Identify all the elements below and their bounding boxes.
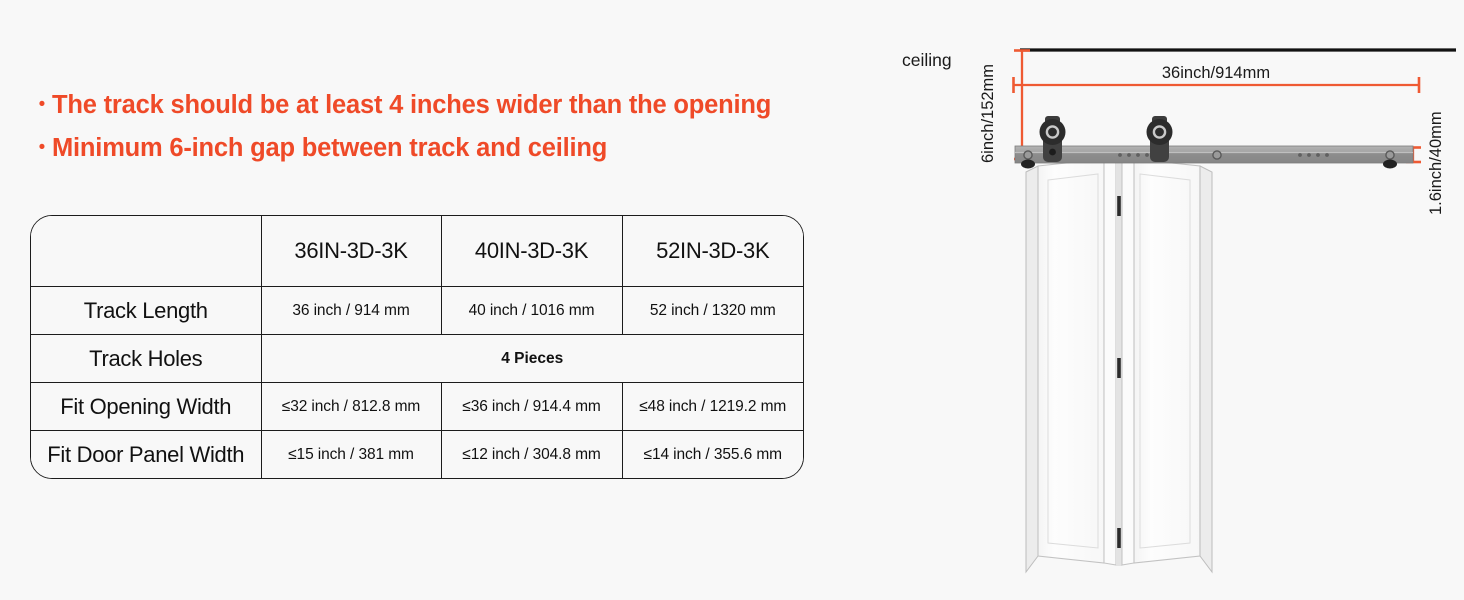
- door-hinge-middle: [1117, 358, 1121, 378]
- door-center-stile-right: [1122, 157, 1134, 565]
- row-label: Track Length: [31, 287, 261, 335]
- row-label: Fit Door Panel Width: [31, 431, 261, 479]
- table-row: Track Holes 4 Pieces: [31, 335, 803, 383]
- gap-dimension-label: 6inch/152mm: [979, 64, 997, 163]
- bullet-dot-icon: •: [32, 88, 52, 122]
- table-cell: ≤32 inch / 812.8 mm: [261, 383, 441, 431]
- table-cell: 40 inch / 1016 mm: [441, 287, 622, 335]
- ceiling-label: ceiling: [902, 50, 952, 70]
- column-header: 52IN-3D-3K: [622, 216, 803, 287]
- bifold-door-diagram: ceiling 6inch/152mm 36inch/914mm 1.6inch…: [880, 0, 1464, 600]
- door-hinge-bottom: [1117, 528, 1121, 548]
- note-text: Minimum 6-inch gap between track and cei…: [52, 131, 607, 165]
- track-mount-hole: [1024, 151, 1032, 159]
- note-item: • Minimum 6-inch gap between track and c…: [30, 131, 910, 165]
- table-cell-merged: 4 Pieces: [261, 335, 803, 383]
- track-mount-hole: [1213, 151, 1221, 159]
- column-header: 40IN-3D-3K: [441, 216, 622, 287]
- row-label: Track Holes: [31, 335, 261, 383]
- bifold-door-panels: [1026, 156, 1212, 572]
- table-row: Track Length 36 inch / 914 mm 40 inch / …: [31, 287, 803, 335]
- row-label: Fit Opening Width: [31, 383, 261, 431]
- column-header: 36IN-3D-3K: [261, 216, 441, 287]
- track-end-stop: [1021, 160, 1035, 169]
- door-center-stile-left: [1104, 157, 1116, 565]
- note-text: The track should be at least 4 inches wi…: [52, 88, 771, 122]
- notes-list: • The track should be at least 4 inches …: [30, 88, 910, 174]
- roller-hanger-right: [1147, 116, 1173, 162]
- note-item: • The track should be at least 4 inches …: [30, 88, 910, 122]
- door-left-outer-edge: [1026, 166, 1038, 572]
- door-hinge-top: [1117, 196, 1121, 216]
- table-cell: ≤12 inch / 304.8 mm: [441, 431, 622, 479]
- roller-hanger-left: [1040, 116, 1066, 162]
- track-mount-hole: [1386, 151, 1394, 159]
- table-row: Fit Door Panel Width ≤15 inch / 381 mm ≤…: [31, 431, 803, 479]
- track-end-stop: [1383, 160, 1397, 169]
- table-cell: ≤48 inch / 1219.2 mm: [622, 383, 803, 431]
- table-cell: ≤36 inch / 914.4 mm: [441, 383, 622, 431]
- table-cell: ≤14 inch / 355.6 mm: [622, 431, 803, 479]
- track-length-dimension: 36inch/914mm: [1013, 64, 1420, 93]
- table-header-row: 36IN-3D-3K 40IN-3D-3K 52IN-3D-3K: [31, 216, 803, 287]
- bullet-dot-icon: •: [32, 131, 52, 165]
- table-cell: 52 inch / 1320 mm: [622, 287, 803, 335]
- table-corner-cell: [31, 216, 261, 287]
- table-row: Fit Opening Width ≤32 inch / 812.8 mm ≤3…: [31, 383, 803, 431]
- track-height-dimension-label: 1.6inch/40mm: [1427, 111, 1445, 215]
- track-length-dimension-label: 36inch/914mm: [1162, 64, 1270, 82]
- table-cell: ≤15 inch / 381 mm: [261, 431, 441, 479]
- table-cell: 36 inch / 914 mm: [261, 287, 441, 335]
- left-panel: • The track should be at least 4 inches …: [0, 0, 860, 600]
- door-right-outer-edge: [1200, 166, 1212, 572]
- spec-table: 36IN-3D-3K 40IN-3D-3K 52IN-3D-3K Track L…: [30, 215, 804, 479]
